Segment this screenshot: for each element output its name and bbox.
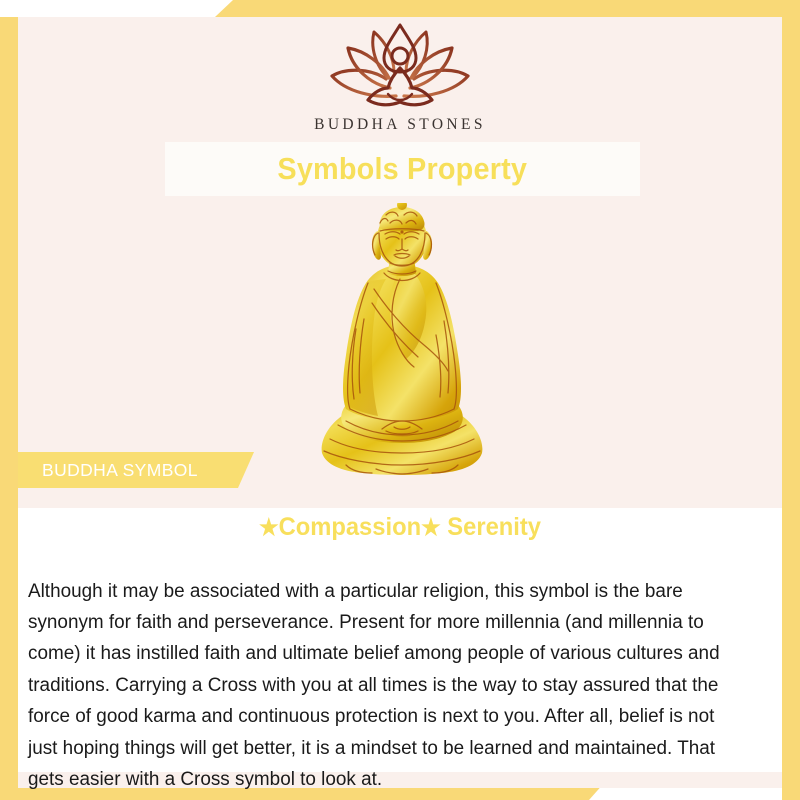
star-icon-left: ★ bbox=[259, 514, 279, 540]
section-heading: ★Compassion★ Serenity bbox=[20, 513, 780, 542]
section-heading-part-two: Serenity bbox=[447, 513, 541, 541]
page-title: Symbols Property bbox=[278, 151, 528, 187]
tag-label: BUDDHA SYMBOL bbox=[42, 460, 198, 481]
seated-buddha-statue bbox=[302, 203, 502, 488]
top-frame-band bbox=[215, 0, 800, 17]
section-heading-part-one: Compassion bbox=[279, 513, 422, 541]
buddha-symbol-tag: BUDDHA SYMBOL bbox=[18, 452, 254, 488]
page-title-bar: Symbols Property bbox=[165, 142, 640, 196]
star-icon-right: ★ bbox=[421, 514, 441, 540]
infographic-page: BUDDHA STONES Symbols Property bbox=[0, 0, 800, 800]
buddha-illustration bbox=[302, 203, 502, 488]
lotus-meditation-icon bbox=[316, 22, 484, 114]
section-body-text: Although it may be associated with a par… bbox=[28, 576, 742, 796]
brand-logo: BUDDHA STONES bbox=[0, 22, 800, 134]
brand-name: BUDDHA STONES bbox=[0, 116, 800, 134]
